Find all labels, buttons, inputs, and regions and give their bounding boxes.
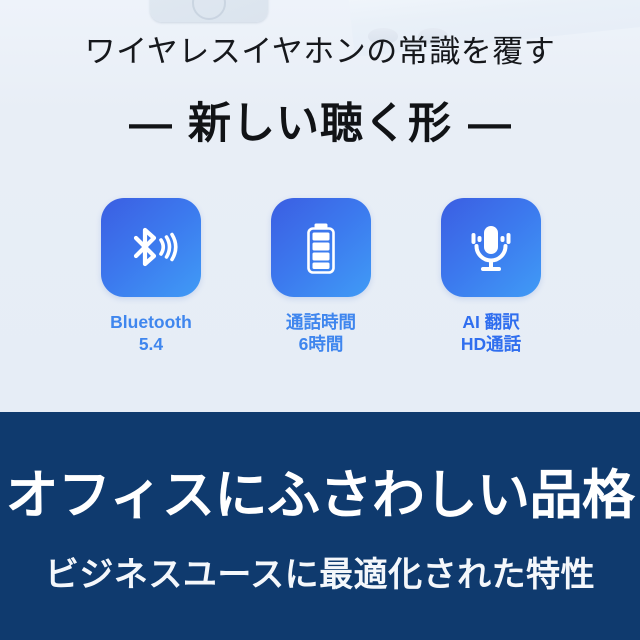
battery-full-icon xyxy=(290,217,352,279)
feature-label-bluetooth: Bluetooth 5.4 xyxy=(110,311,192,355)
feature-label-battery-line1: 通話時間 xyxy=(286,312,356,332)
feature-label-battery: 通話時間 6時間 xyxy=(286,311,356,355)
feature-label-bluetooth-line1: Bluetooth xyxy=(110,312,192,332)
lead-headline: ワイヤレスイヤホンの常識を覆す xyxy=(0,34,640,71)
feature-tile-battery xyxy=(271,198,371,297)
feature-label-battery-line2: 6時間 xyxy=(286,333,356,355)
bluetooth-icon xyxy=(120,217,182,279)
top-section: ワイヤレスイヤホンの常識を覆す —新しい聴く形— xyxy=(0,0,640,412)
feature-label-ai-translation-line1: AI 翻訳 xyxy=(462,312,519,332)
feature-battery[interactable]: 通話時間 6時間 xyxy=(256,198,386,355)
product-banner: ワイヤレスイヤホンの常識を覆す —新しい聴く形— xyxy=(0,0,640,640)
feature-label-ai-translation: AI 翻訳 HD通話 xyxy=(461,311,521,355)
bottom-title: オフィスにふさわしい品格 xyxy=(0,467,640,525)
feature-bluetooth[interactable]: Bluetooth 5.4 xyxy=(86,198,216,355)
main-headline: —新しい聴く形— xyxy=(0,99,640,150)
charging-case-image xyxy=(150,0,268,22)
bottom-section: オフィスにふさわしい品格 ビジネスユースに最適化された特性 xyxy=(0,412,640,640)
headline-rule-right: — xyxy=(464,100,515,148)
microphone-icon xyxy=(460,217,522,279)
feature-label-bluetooth-line2: 5.4 xyxy=(110,333,192,355)
feature-label-ai-translation-line2: HD通話 xyxy=(461,333,521,355)
bottom-subtitle: ビジネスユースに最適化された特性 xyxy=(0,556,640,595)
feature-tile-bluetooth xyxy=(101,198,201,297)
headline-rule-left: — xyxy=(125,100,176,148)
feature-tile-microphone xyxy=(441,198,541,297)
feature-ai-translation[interactable]: AI 翻訳 HD通話 xyxy=(426,198,556,355)
feature-icon-row: Bluetooth 5.4 通話時間 xyxy=(86,198,556,355)
headline-text: 新しい聴く形 xyxy=(176,100,464,148)
